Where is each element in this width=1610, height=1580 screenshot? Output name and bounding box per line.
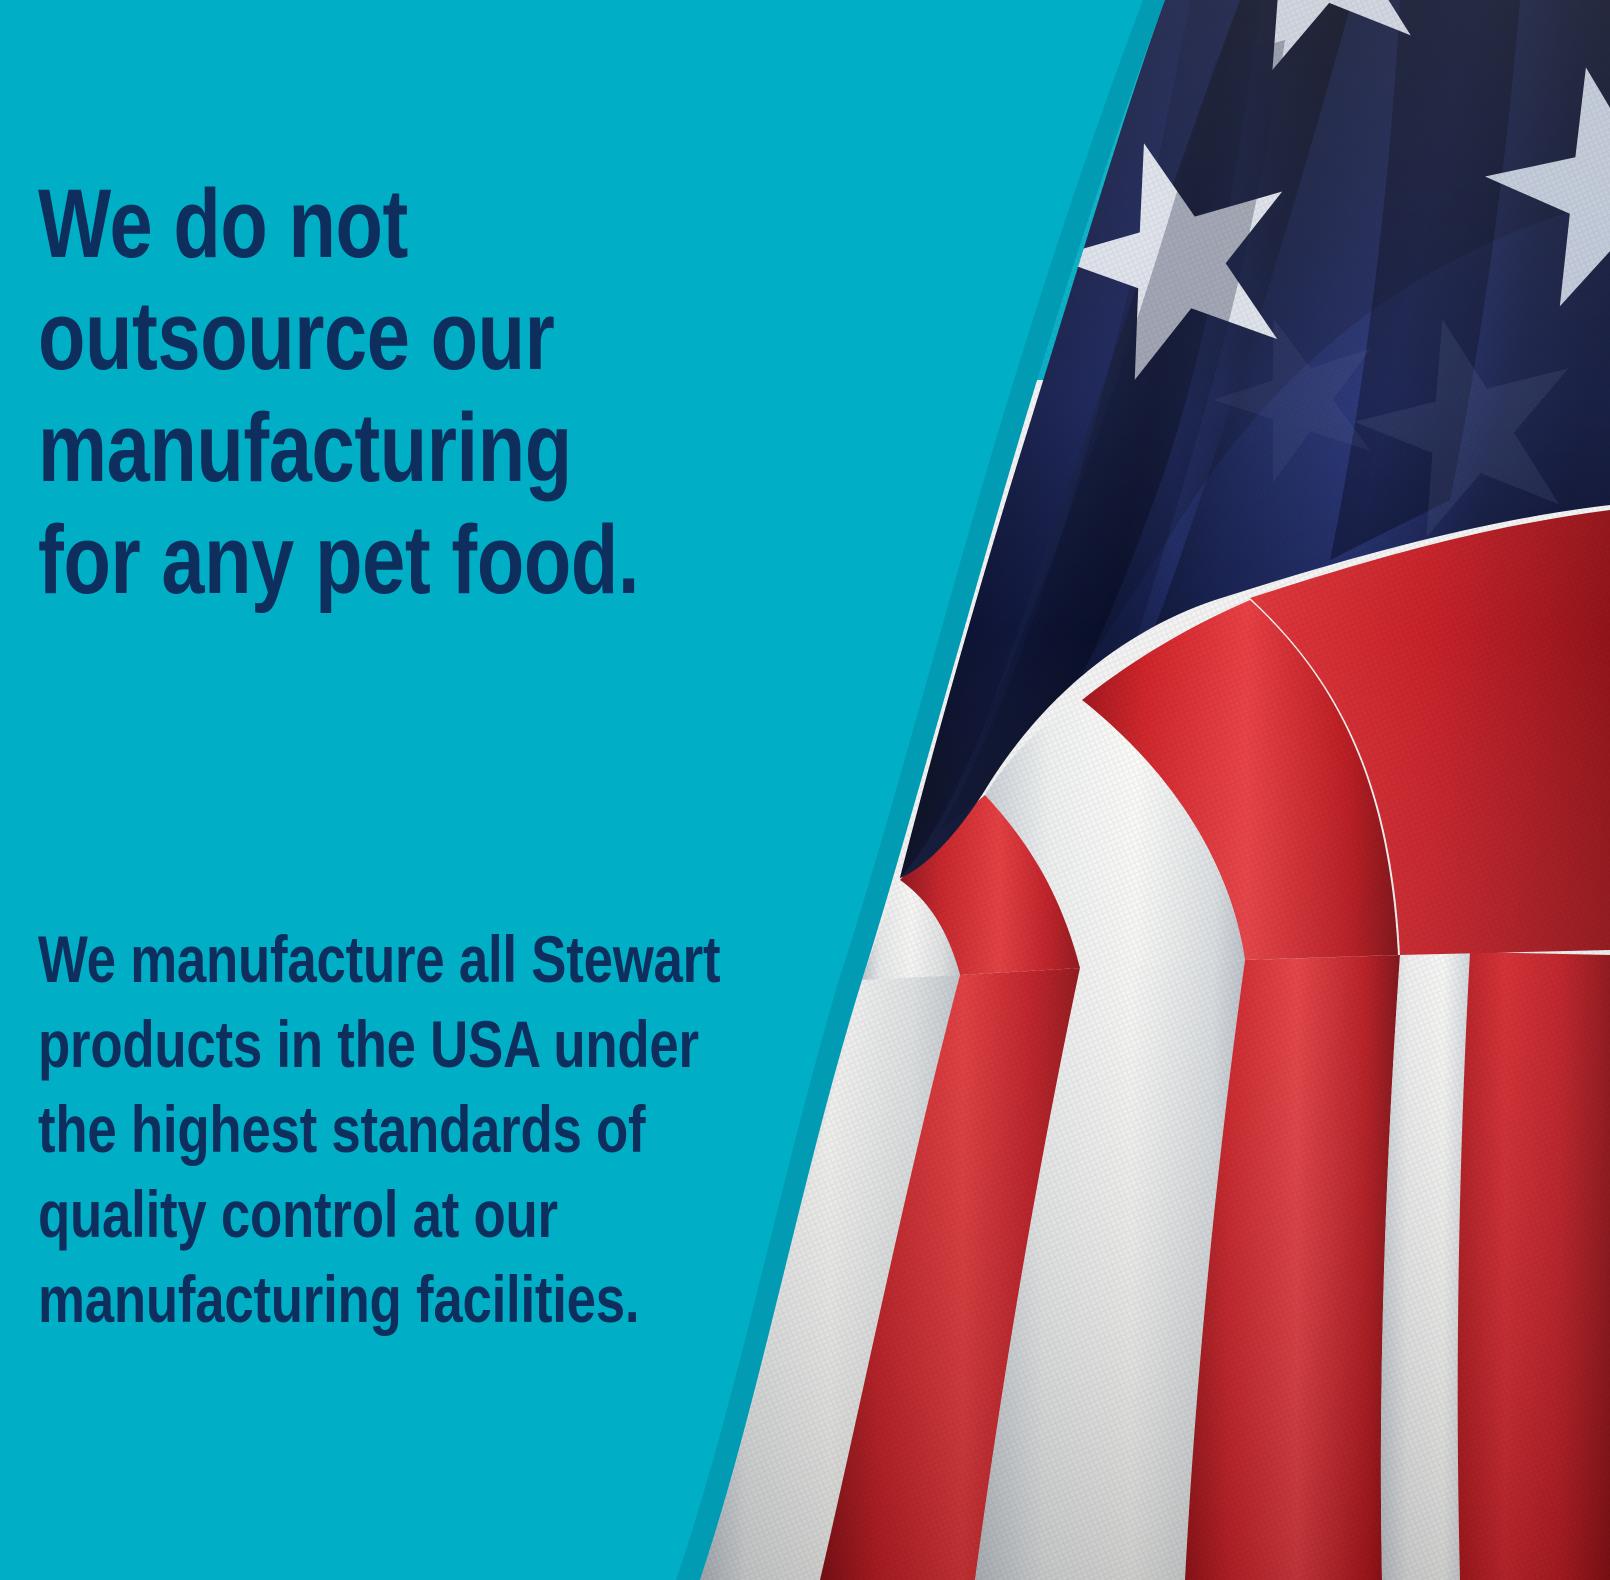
headline-text: We do not outsource our manufacturing fo… bbox=[38, 168, 646, 616]
body-paragraph: We manufacture all Stewart products in t… bbox=[38, 917, 822, 1342]
promo-graphic: We do not outsource our manufacturing fo… bbox=[0, 0, 1610, 1580]
copy-column: We do not outsource our manufacturing fo… bbox=[38, 0, 818, 1580]
